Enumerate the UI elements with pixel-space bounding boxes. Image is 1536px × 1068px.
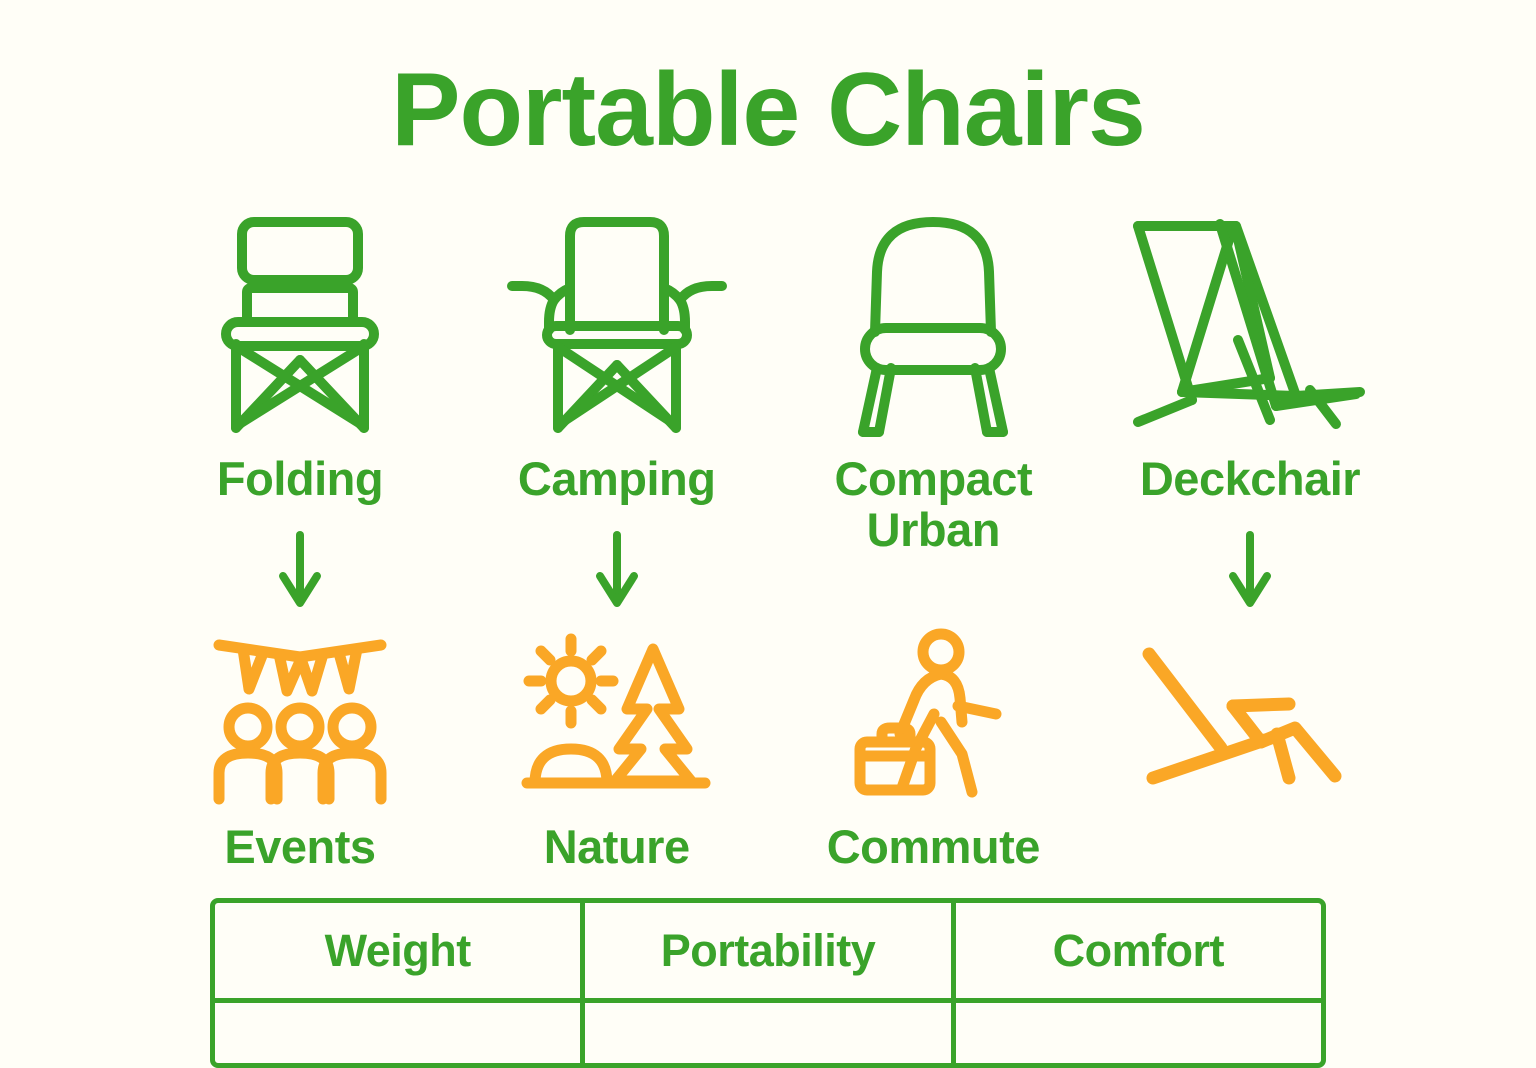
use-case-label: Events	[224, 822, 375, 873]
use-cases-row: Events Nature	[150, 628, 1400, 873]
camping-chair-icon	[477, 205, 757, 450]
down-arrow-icon	[270, 531, 330, 611]
chair-type-label: Folding	[217, 454, 383, 505]
deckchair-icon	[1110, 205, 1390, 450]
table-row	[215, 998, 1321, 1063]
walking-person-briefcase-icon	[803, 628, 1063, 808]
comparison-table: Weight Portability Comfort	[210, 898, 1326, 1068]
table-header-weight: Weight	[215, 903, 580, 998]
chair-type-deckchair: Deckchair	[1100, 205, 1400, 611]
page-title: Portable Chairs	[0, 56, 1536, 165]
down-arrow-icon	[1220, 531, 1280, 611]
use-case-label: Nature	[544, 822, 690, 873]
use-case-nature: Nature	[467, 628, 767, 873]
down-arrow-icon	[587, 531, 647, 611]
lounger-sketch-icon	[1120, 628, 1380, 808]
chair-type-folding: Folding	[150, 205, 450, 611]
use-case-commute: Commute	[783, 628, 1083, 873]
use-case-lounger	[1100, 628, 1400, 822]
chair-type-label: Compact Urban	[783, 454, 1083, 556]
table-cell-weight	[215, 1003, 580, 1063]
bunting-people-icon	[170, 628, 430, 808]
sun-tree-icon	[487, 628, 747, 808]
table-cell-comfort	[951, 1003, 1321, 1063]
chair-type-label: Deckchair	[1140, 454, 1360, 505]
compact-urban-chair-icon	[793, 205, 1073, 450]
table-header-comfort: Comfort	[951, 903, 1321, 998]
chair-type-compact-urban: Compact Urban	[783, 205, 1083, 662]
use-case-events: Events	[150, 628, 450, 873]
table-header-row: Weight Portability Comfort	[215, 903, 1321, 998]
chair-type-camping: Camping	[467, 205, 767, 611]
table-cell-portability	[580, 1003, 950, 1063]
table-header-portability: Portability	[580, 903, 950, 998]
infographic-canvas: Portable Chairs Folding	[0, 0, 1536, 1024]
chair-types-row: Folding	[150, 205, 1400, 662]
use-case-label: Commute	[827, 822, 1040, 873]
folding-chair-icon	[160, 205, 440, 450]
chair-type-label: Camping	[518, 454, 716, 505]
